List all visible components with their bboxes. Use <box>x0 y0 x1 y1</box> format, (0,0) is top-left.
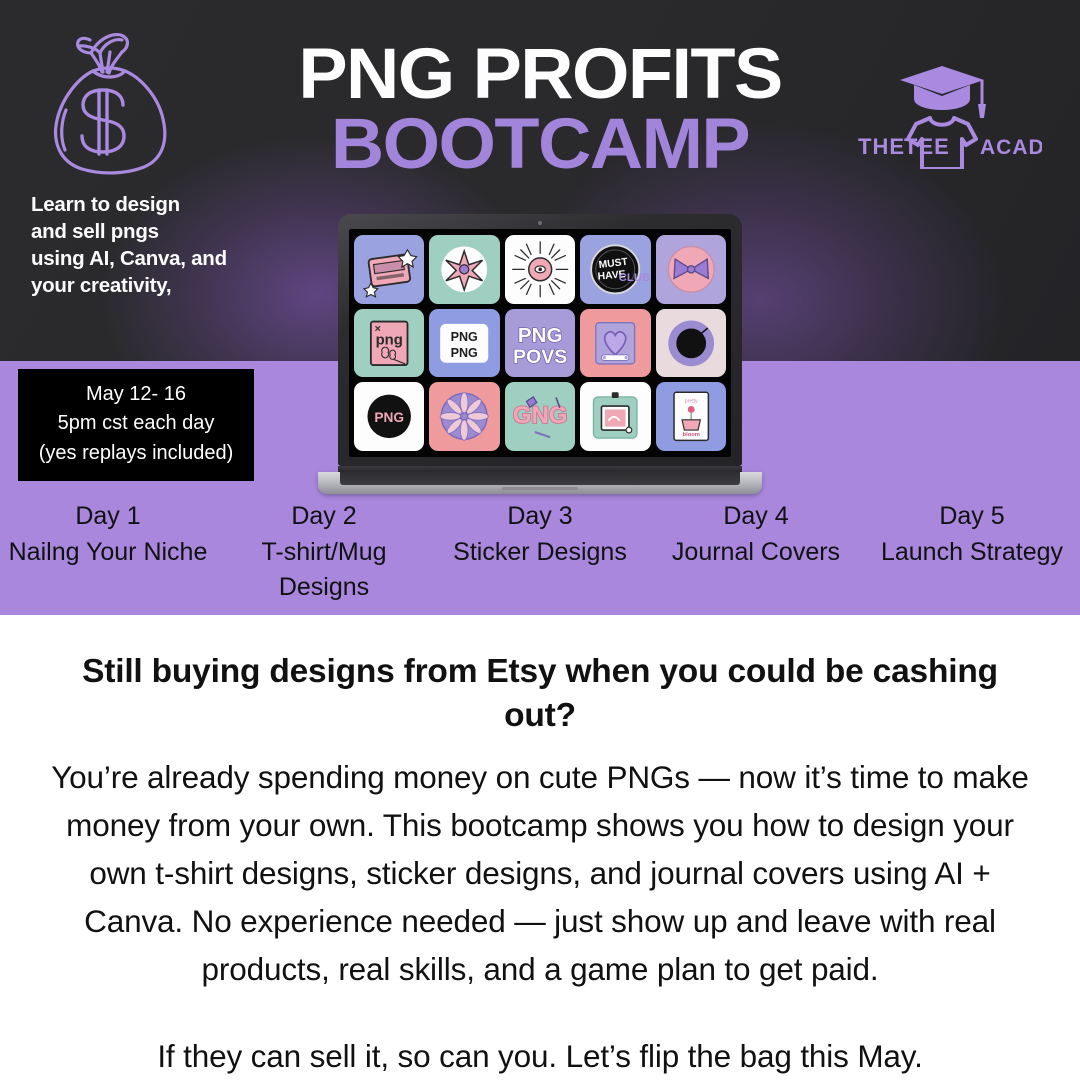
logo-word-the: THE <box>858 134 905 159</box>
day-column-4: Day 4 Journal Covers <box>648 499 864 606</box>
badge-line-dates: May 12- 16 <box>24 380 248 409</box>
tile-text-png-circle: PNG <box>374 410 404 425</box>
money-bag-icon <box>30 22 190 187</box>
poster-thumbnail[interactable]: pretty bloom <box>656 382 726 451</box>
svg-text:CLUB: CLUB <box>619 272 651 284</box>
png-card-thumbnail[interactable]: png <box>354 309 424 378</box>
laptop-base <box>318 472 762 494</box>
day-column-2: Day 2 T-shirt/Mug Designs <box>216 499 432 606</box>
png-black-circle-thumbnail[interactable]: PNG <box>354 382 424 451</box>
svg-text:bloom: bloom <box>682 432 699 438</box>
day-number-3: Day 3 <box>434 499 646 535</box>
tile-text-png: PNG <box>518 324 563 347</box>
day-number-5: Day 5 <box>866 499 1078 535</box>
laptop-front-notch <box>502 487 578 490</box>
png-povs-thumbnail[interactable]: PNG POVS <box>505 309 575 378</box>
tile-text-povs: POVS <box>513 345 567 367</box>
academy-logo: THE TEE ACADEMY <box>842 44 1042 169</box>
sunburst-eye-thumbnail[interactable] <box>505 235 575 304</box>
sticker-card-thumbnail[interactable] <box>354 235 424 304</box>
date-badge: May 12- 16 5pm cst each day (yes replays… <box>18 369 254 481</box>
day-number-4: Day 4 <box>650 499 862 535</box>
day-topic-4: Journal Covers <box>650 535 862 571</box>
tile-text-png-2: PNG <box>451 346 478 360</box>
svg-text:png: png <box>376 332 403 348</box>
body-section: Still buying designs from Etsy when you … <box>0 615 1080 1080</box>
framed-art-thumbnail[interactable] <box>580 382 650 451</box>
day-column-3: Day 3 Sticker Designs <box>432 499 648 606</box>
day-number-1: Day 1 <box>2 499 214 535</box>
day-column-1: Day 1 Nailng Your Niche <box>0 499 216 606</box>
badge-line-time: 5pm cst each day <box>24 409 248 438</box>
logo-word-academy: ACADEMY <box>980 136 1042 159</box>
webcam-dot-icon <box>538 221 542 225</box>
day-topic-3: Sticker Designs <box>434 535 646 571</box>
tagline-line-1: Learn to design <box>31 192 261 219</box>
hero-tagline: Learn to design and sell pngs using AI, … <box>31 192 261 299</box>
laptop-lid: MUST HAVE CLUB <box>338 214 742 466</box>
starburst-thumbnail[interactable] <box>429 235 499 304</box>
day-number-2: Day 2 <box>218 499 430 535</box>
laptop-screen: MUST HAVE CLUB <box>349 229 731 457</box>
heart-label-thumbnail[interactable] <box>580 309 650 378</box>
tagline-line-3: using AI, Canva, and <box>31 246 261 273</box>
laptop-mockup: MUST HAVE CLUB <box>318 214 762 494</box>
tagline-line-4: your creativity, <box>31 273 261 300</box>
graduation-cap-icon <box>900 66 984 110</box>
svg-text:pretty: pretty <box>684 399 697 405</box>
day-schedule-row: Day 1 Nailng Your Niche Day 2 T-shirt/Mu… <box>0 499 1080 606</box>
day-topic-5: Launch Strategy <box>866 535 1078 571</box>
body-closing-line: If they can sell it, so can you. Let’s f… <box>40 1033 1040 1080</box>
day-topic-2: T-shirt/Mug Designs <box>218 535 430 606</box>
laptop-keyboard <box>340 472 740 485</box>
body-paragraph: You’re already spending money on cute PN… <box>40 754 1040 993</box>
graffiti-badge-thumbnail[interactable]: MUST HAVE CLUB <box>580 235 650 304</box>
day-column-5: Day 5 Launch Strategy <box>864 499 1080 606</box>
png-png-thumbnail[interactable]: PNG PNG <box>429 309 499 378</box>
tagline-line-2: and sell pngs <box>31 219 261 246</box>
bow-circle-thumbnail[interactable] <box>656 235 726 304</box>
swirl-circle-thumbnail[interactable] <box>656 309 726 378</box>
badge-line-replays: (yes replays included) <box>24 439 248 468</box>
flower-circle-thumbnail[interactable] <box>429 382 499 451</box>
tile-text-png-1: PNG <box>451 330 478 344</box>
logo-word-tee: TEE <box>904 134 950 159</box>
gng-bubble-thumbnail[interactable]: GNG <box>505 382 575 451</box>
body-headline: Still buying designs from Etsy when you … <box>75 650 1005 738</box>
day-topic-1: Nailng Your Niche <box>2 535 214 571</box>
